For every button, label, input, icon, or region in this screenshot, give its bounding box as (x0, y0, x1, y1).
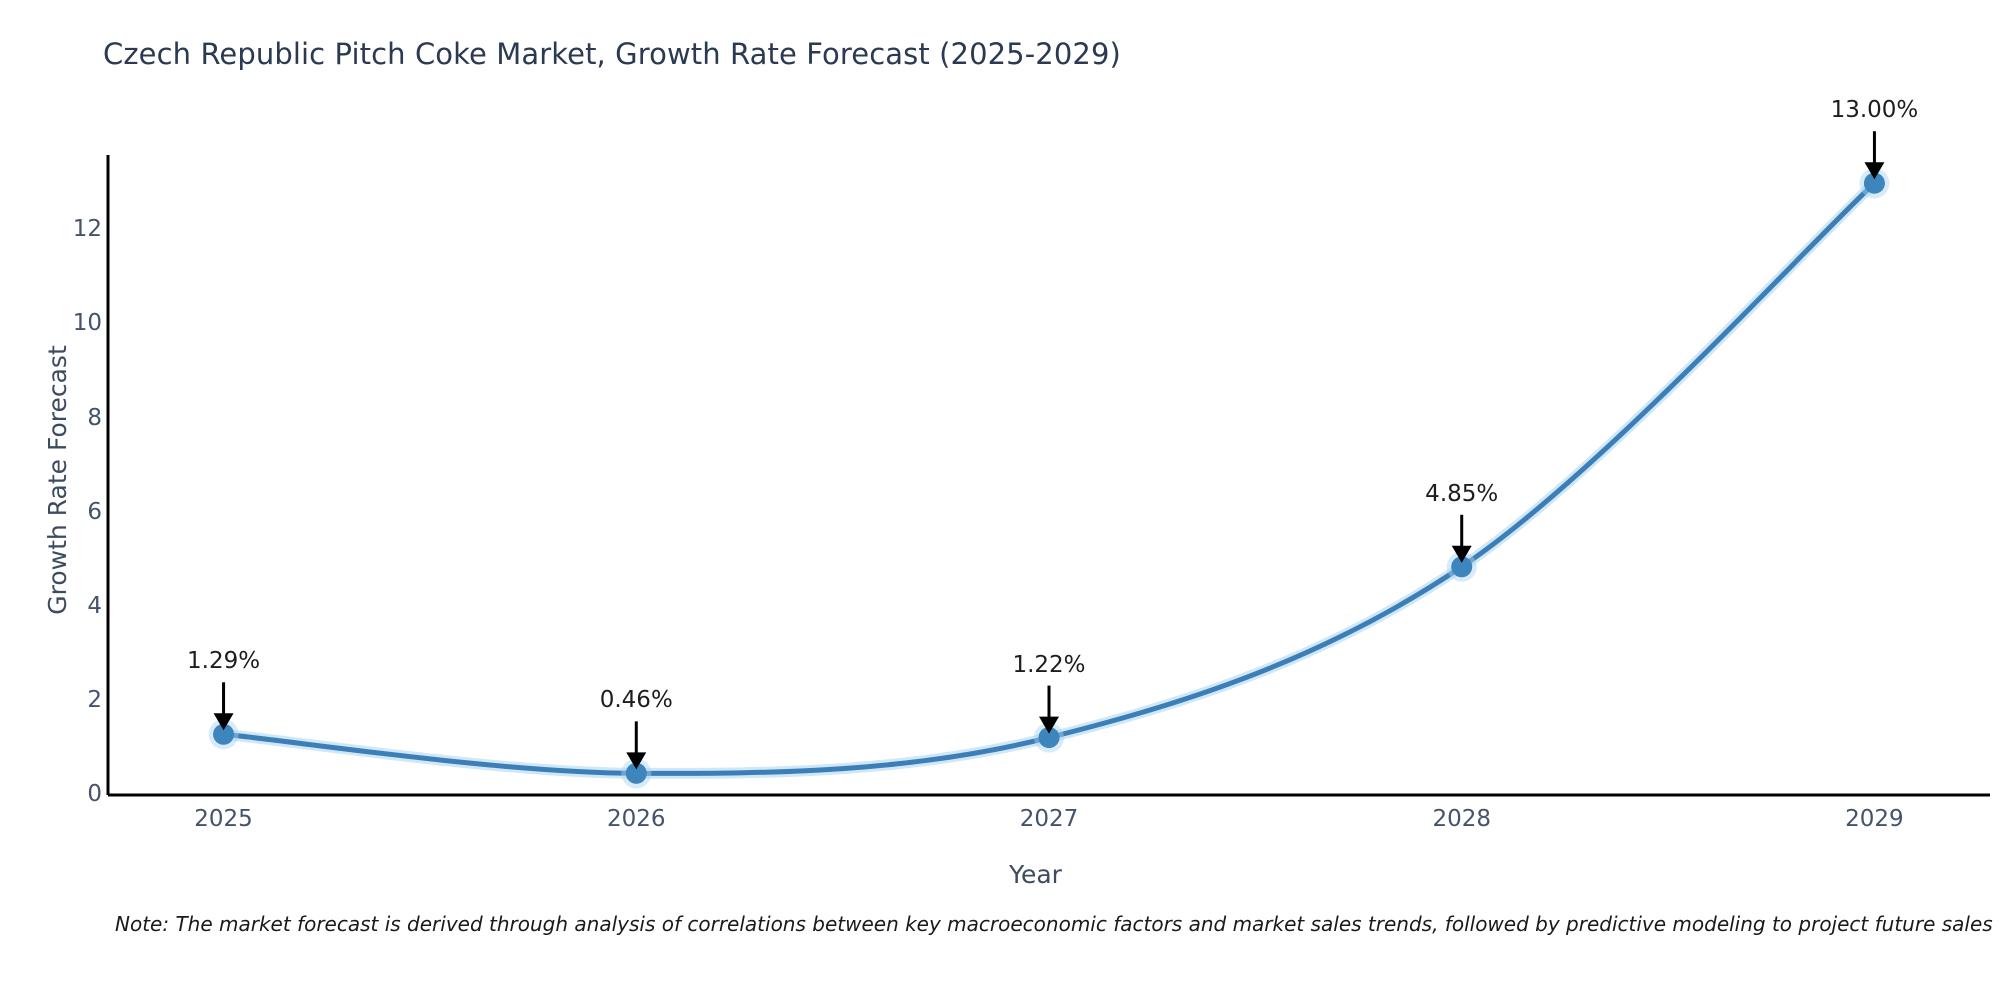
data-series-line (224, 183, 1875, 773)
x-tick-label: 2029 (1804, 806, 1944, 832)
y-axis-title: Growth Rate Forecast (38, 160, 78, 800)
series-line-halo (224, 183, 1875, 773)
point-value-label: 1.22% (1012, 652, 1085, 678)
x-tick-label: 2027 (979, 806, 1119, 832)
x-axis-title-wrap: Year (0, 860, 2000, 889)
chart-footnote: Note: The market forecast is derived thr… (115, 912, 1993, 936)
x-tick-label: 2028 (1392, 806, 1532, 832)
point-value-label: 0.46% (600, 687, 673, 713)
plot-area: 024681012 20252026202720282029 1.29%0.46… (0, 0, 2000, 1000)
growth-rate-forecast-chart: Czech Republic Pitch Coke Market, Growth… (0, 0, 2000, 1000)
series-line (224, 183, 1875, 773)
plot-canvas (0, 0, 2000, 1000)
point-value-label: 4.85% (1425, 481, 1498, 507)
x-tick-label: 2026 (566, 806, 706, 832)
x-axis-title: Year (1009, 860, 1062, 889)
point-value-label: 1.29% (187, 648, 260, 674)
point-value-label: 13.00% (1831, 97, 1919, 123)
x-tick-label: 2025 (154, 806, 294, 832)
